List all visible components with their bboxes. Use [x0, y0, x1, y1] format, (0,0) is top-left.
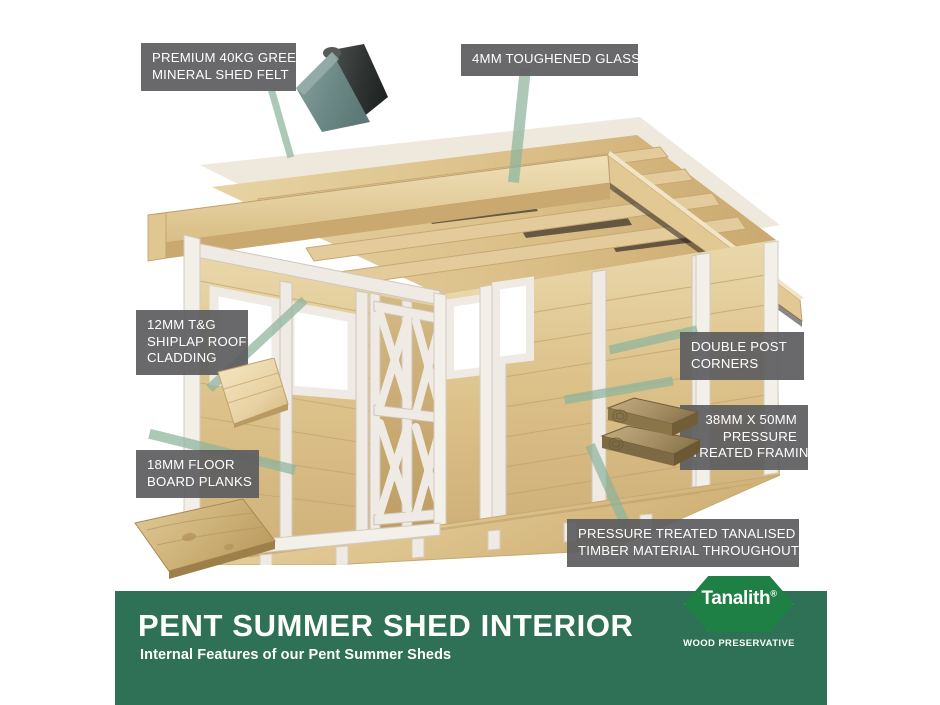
callout-shed-felt-line-1: PREMIUM 40KG GREEN: [152, 50, 285, 67]
page-title: PENT SUMMER SHED INTERIOR: [138, 608, 634, 644]
tanalith-logo: Tanalith® WOOD PRESERVATIVE: [676, 576, 802, 662]
tanalith-wordmark-text: Tanalith: [701, 588, 770, 609]
callout-shed-felt[interactable]: PREMIUM 40KG GREEN MINERAL SHED FELT: [141, 43, 296, 91]
callout-shiplap-line-2: SHIPLAP ROOF: [147, 334, 237, 351]
callout-shed-felt-line-2: MINERAL SHED FELT: [152, 67, 285, 84]
tanalith-wordmark: Tanalith®: [684, 588, 794, 610]
pressure-treated-framing-sample: [598, 392, 703, 472]
shed-felt-roll-sample: [292, 42, 392, 134]
callout-tanalised-throughout[interactable]: PRESSURE TREATED TANALISED TIMBER MATERI…: [567, 519, 799, 567]
floor-board-plank-sample: [133, 497, 278, 582]
tanalith-tagline: WOOD PRESERVATIVE: [676, 638, 802, 649]
callout-double-post-line-1: DOUBLE POST: [691, 339, 793, 356]
page-subtitle: Internal Features of our Pent Summer She…: [140, 647, 451, 663]
callout-double-post-corners[interactable]: DOUBLE POST CORNERS: [680, 332, 804, 380]
callout-double-post-line-2: CORNERS: [691, 356, 793, 373]
callout-toughened-glass[interactable]: 4mm TOUGHENED GLASS: [461, 44, 638, 76]
diagram-canvas: PREMIUM 40KG GREEN MINERAL SHED FELT 4mm…: [0, 0, 940, 705]
callout-framing-line-2: PRESSURE: [691, 429, 797, 446]
callout-shiplap-line-1: 12mm T&G: [147, 317, 237, 334]
registered-trademark-icon: ®: [770, 589, 776, 599]
callout-floor-board-planks[interactable]: 18mm FLOOR BOARD PLANKS: [136, 450, 259, 498]
shiplap-cladding-board-sample: [212, 358, 292, 428]
callout-framing-line-1: 38mm X 50mm: [691, 412, 797, 429]
callout-tanalised-line-2: TIMBER MATERIAL THROUGHOUT.: [578, 543, 788, 560]
callout-toughened-glass-line-1: 4mm TOUGHENED GLASS: [472, 51, 627, 68]
callout-floor-line-2: BOARD PLANKS: [147, 474, 248, 491]
callout-tanalised-line-1: PRESSURE TREATED TANALISED: [578, 526, 788, 543]
callout-framing-line-3: TREATED FRAMING: [691, 445, 797, 462]
callout-floor-line-1: 18mm FLOOR: [147, 457, 248, 474]
